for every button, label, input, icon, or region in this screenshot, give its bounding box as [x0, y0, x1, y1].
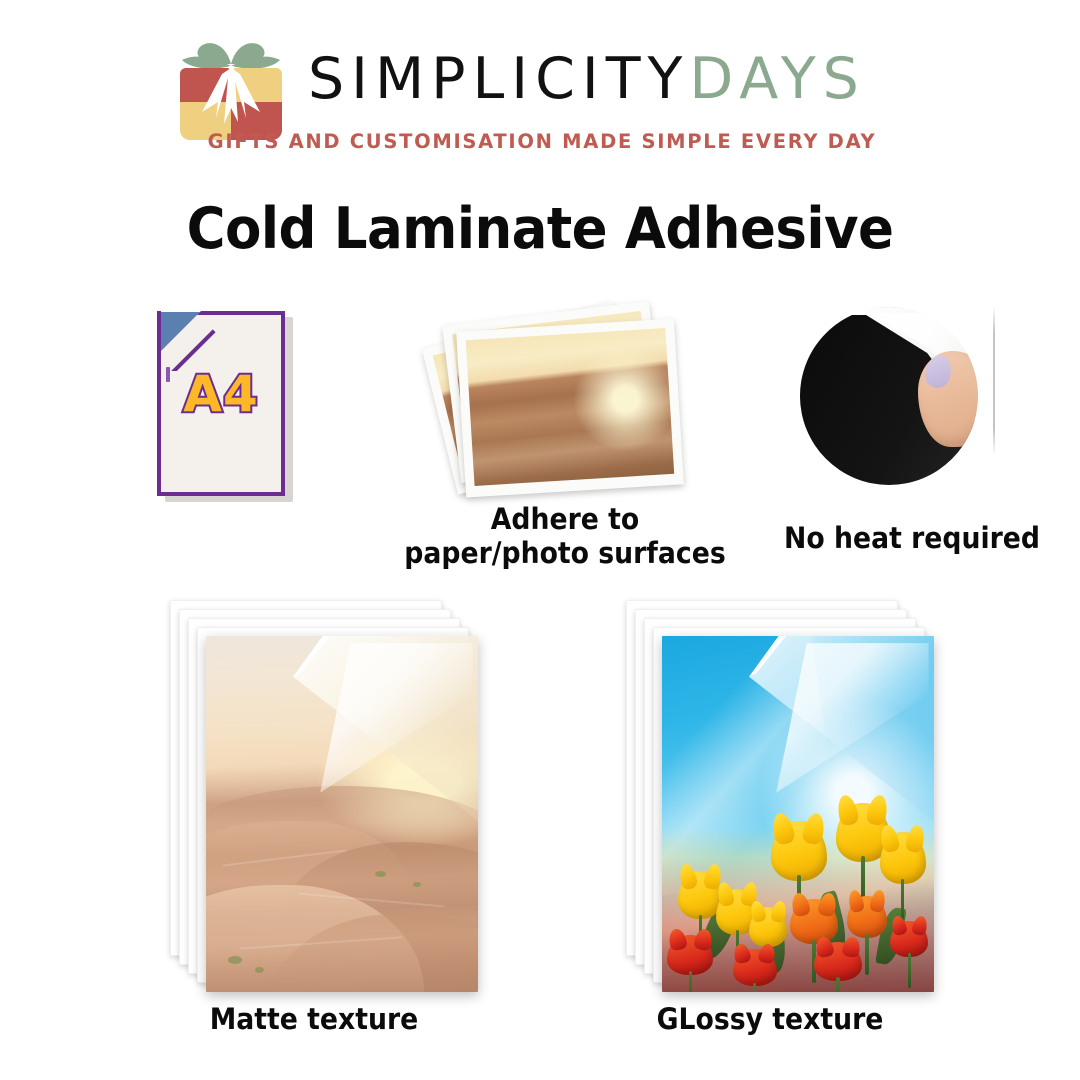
wordmark-simplicity: SIMPLICITY — [308, 46, 689, 112]
caption-adhere: Adhere to paper/photo surfaces — [369, 503, 761, 571]
a4-left-border — [157, 311, 161, 357]
peel-film-circle-photo — [800, 307, 978, 485]
a4-paper-icon: A4 — [157, 311, 299, 506]
glossy-front-sheet — [662, 636, 934, 992]
page-title: Cold Laminate Adhesive — [38, 196, 1042, 262]
caption-matte: Matte texture — [134, 1003, 495, 1037]
vertical-divider — [993, 306, 995, 456]
caption-adhere-line1: Adhere to — [369, 503, 761, 537]
texture-panel-glossy — [626, 600, 946, 1000]
photo-stack-sheet — [456, 319, 684, 498]
wordmark-days: DAYS — [689, 46, 865, 112]
caption-adhere-line2: paper/photo surfaces — [369, 537, 761, 571]
photo-stack-icon — [435, 305, 685, 500]
wordmark: SIMPLICITYDAYS — [308, 44, 866, 114]
texture-panel-matte — [170, 600, 490, 1000]
brand-header: SIMPLICITYDAYS GIFTS AND CUSTOMISATION M… — [0, 22, 1080, 157]
circle-photo-mask — [800, 307, 978, 485]
a4-fold-edge — [157, 311, 217, 371]
logo-row: SIMPLICITYDAYS — [172, 30, 912, 122]
brand-tagline: GIFTS AND CUSTOMISATION MADE SIMPLE EVER… — [172, 130, 912, 153]
matte-front-sheet — [206, 636, 478, 992]
caption-glossy: GLossy texture — [590, 1003, 951, 1037]
infographic-canvas: SIMPLICITYDAYS GIFTS AND CUSTOMISATION M… — [0, 0, 1080, 1080]
a4-badge-label: A4 — [157, 365, 285, 423]
caption-no-heat: No heat required — [756, 522, 1069, 556]
